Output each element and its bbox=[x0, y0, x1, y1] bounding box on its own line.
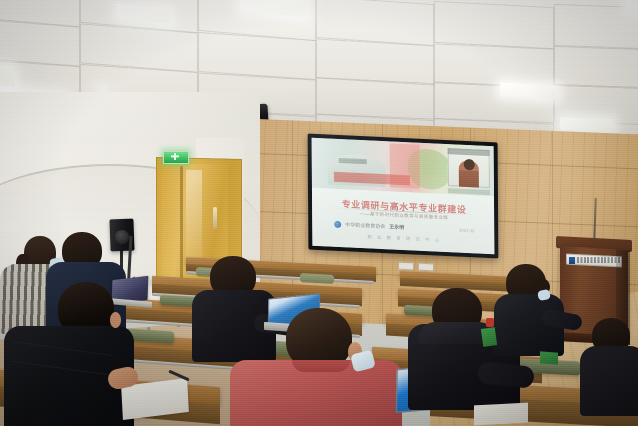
screen-surface: 专业调研与高水平专业群建设 ——基于新时代职业教育与高质量专业群 中华职业教育协… bbox=[312, 138, 495, 255]
door-handle[interactable] bbox=[213, 207, 217, 229]
person-torso bbox=[580, 346, 638, 416]
chair-backrest bbox=[300, 273, 334, 284]
presentation-display[interactable]: 专业调研与高水平专业群建设 ——基于新时代职业教育与高质量专业群 中华职业教育协… bbox=[308, 133, 499, 258]
wall-socket-plate bbox=[398, 262, 414, 271]
lecture-room-photo: 专业调研与高水平专业群建设 ——基于新时代职业教育与高质量专业群 中华职业教育协… bbox=[0, 0, 638, 426]
podium-logo-icon bbox=[569, 257, 575, 264]
exit-sign bbox=[163, 151, 189, 164]
slide-speaker-name: 王永明 bbox=[389, 223, 404, 231]
paper-sheet[interactable] bbox=[474, 403, 528, 426]
collar bbox=[292, 360, 350, 372]
red-cup[interactable] bbox=[486, 318, 494, 327]
podium-nameplate-text bbox=[577, 257, 620, 263]
wall-socket-plate bbox=[418, 263, 434, 272]
speaker-driver-cone bbox=[115, 230, 129, 244]
door-edge-strip bbox=[180, 166, 183, 284]
green-folder[interactable] bbox=[481, 327, 497, 347]
institution-logo-icon bbox=[334, 221, 341, 228]
remote-participant-head bbox=[464, 159, 475, 171]
green-folder[interactable] bbox=[540, 351, 558, 364]
slide-date: 2021.03 bbox=[459, 228, 474, 234]
person-ear bbox=[110, 312, 121, 328]
